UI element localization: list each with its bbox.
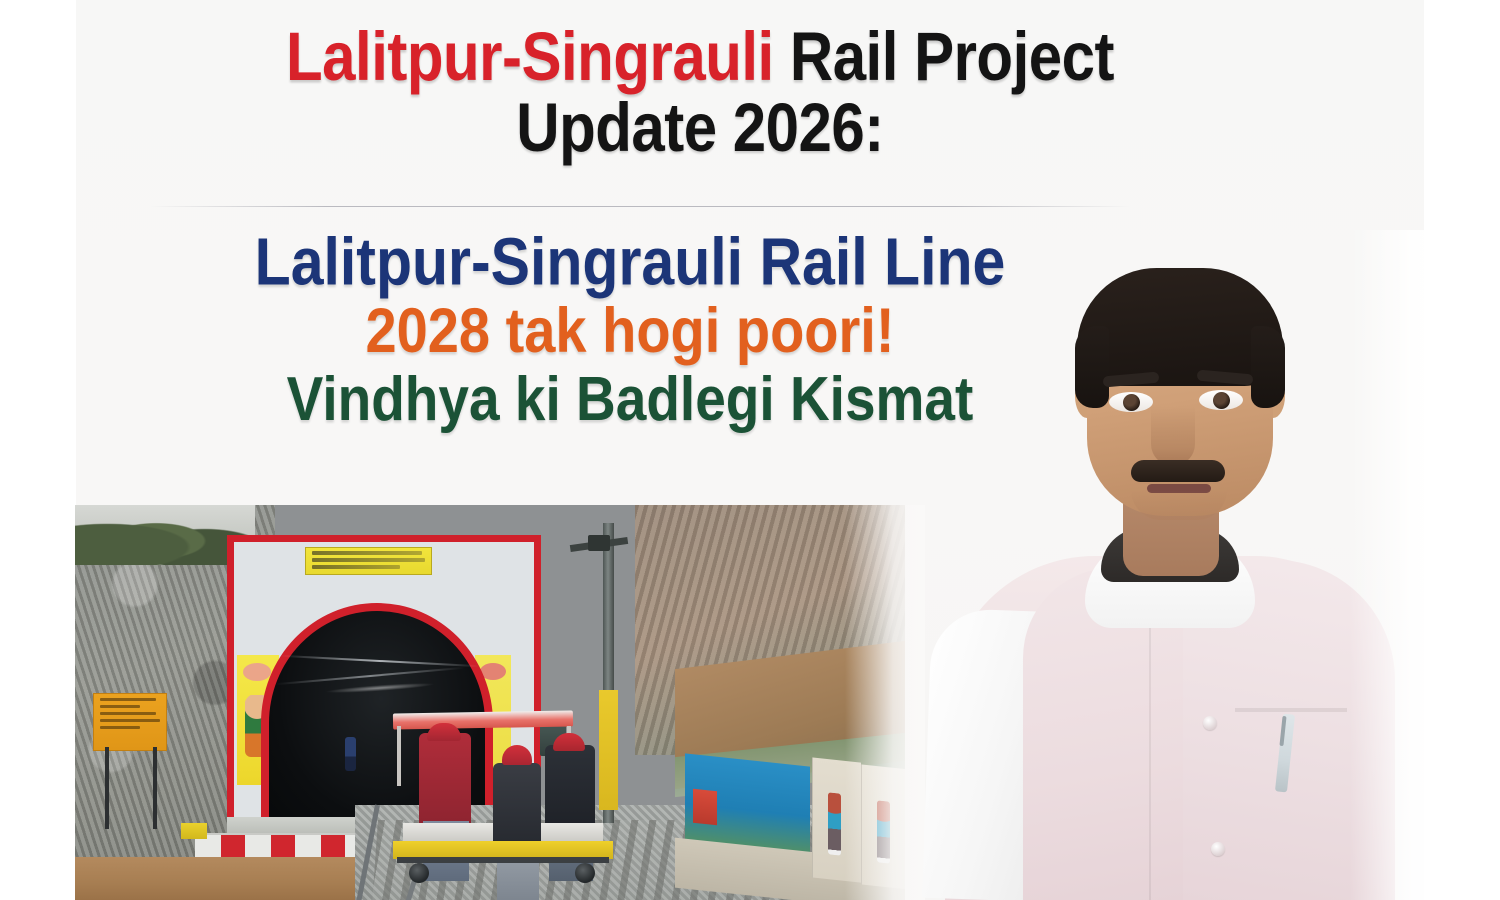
portrait-jacket-button [1211, 842, 1225, 856]
portrait-edge-fade [1350, 230, 1440, 900]
trolley-canopy [393, 710, 573, 729]
trackside-yellow-box [181, 823, 207, 839]
portrait-jacket-pocket [1235, 708, 1347, 712]
info-sign-line [100, 719, 160, 722]
headline-line-2: Update 2026: [90, 92, 1310, 162]
portrait-jacket-seam [1149, 610, 1151, 900]
photo-edge-fade [845, 505, 925, 900]
signboard-line [312, 558, 425, 562]
worker-helmet [553, 733, 585, 751]
info-sign-line [100, 726, 140, 729]
worker-red-jacket [419, 733, 471, 825]
sign-post [105, 747, 109, 829]
portrait-eye-right [1199, 390, 1243, 410]
portrait-moustache [1131, 460, 1225, 482]
headline-rest-text: Rail Project [774, 19, 1114, 95]
headline-divider [150, 206, 1130, 207]
worker-standing-centre [493, 763, 541, 849]
subheadline-block: Lalitpur-Singrauli Rail Line 2028 tak ho… [90, 228, 1170, 427]
headline-block: Lalitpur-Singrauli Rail Project Update 2… [90, 22, 1310, 146]
headline-highlight-text: Lalitpur-Singrauli [286, 19, 774, 95]
information-sign [93, 693, 167, 751]
signboard-line [312, 565, 400, 569]
info-sign-line [100, 712, 156, 715]
trolley-wheel [575, 863, 595, 883]
portrait-iris [1213, 392, 1230, 409]
subheadline-line-2: 2028 tak hogi poori! [90, 298, 1170, 363]
poster-root: Lalitpur-Singrauli Rail Project Update 2… [0, 0, 1500, 900]
subheadline-line-1: Lalitpur-Singrauli Rail Line [90, 228, 1170, 296]
portrait-jacket-button [1203, 716, 1217, 730]
info-sign-line [100, 698, 156, 701]
canopy-leg [397, 726, 401, 786]
tunnel-signboard [305, 547, 432, 575]
left-white-margin [0, 0, 76, 900]
portrait-chin-shadow [1131, 490, 1227, 520]
mural-train-art [693, 789, 717, 826]
signboard-line [312, 551, 422, 555]
headline-line-1: Lalitpur-Singrauli Rail Project Update 2… [90, 22, 1310, 163]
ohe-fitting [588, 535, 610, 551]
tunnel-photo [75, 505, 905, 900]
sign-post [153, 747, 157, 829]
trolley-axle-bar [397, 857, 609, 863]
decor-blob-left [243, 663, 271, 681]
portrait-sideburn-right [1251, 326, 1285, 408]
trolley-wheel [409, 863, 429, 883]
info-sign-line [100, 705, 140, 708]
mural-figure-1 [828, 792, 841, 855]
subheadline-line-3: Vindhya ki Badlegi Kismat [90, 367, 1170, 430]
worker-in-tunnel [345, 737, 356, 771]
mast-yellow-marker [599, 690, 618, 810]
